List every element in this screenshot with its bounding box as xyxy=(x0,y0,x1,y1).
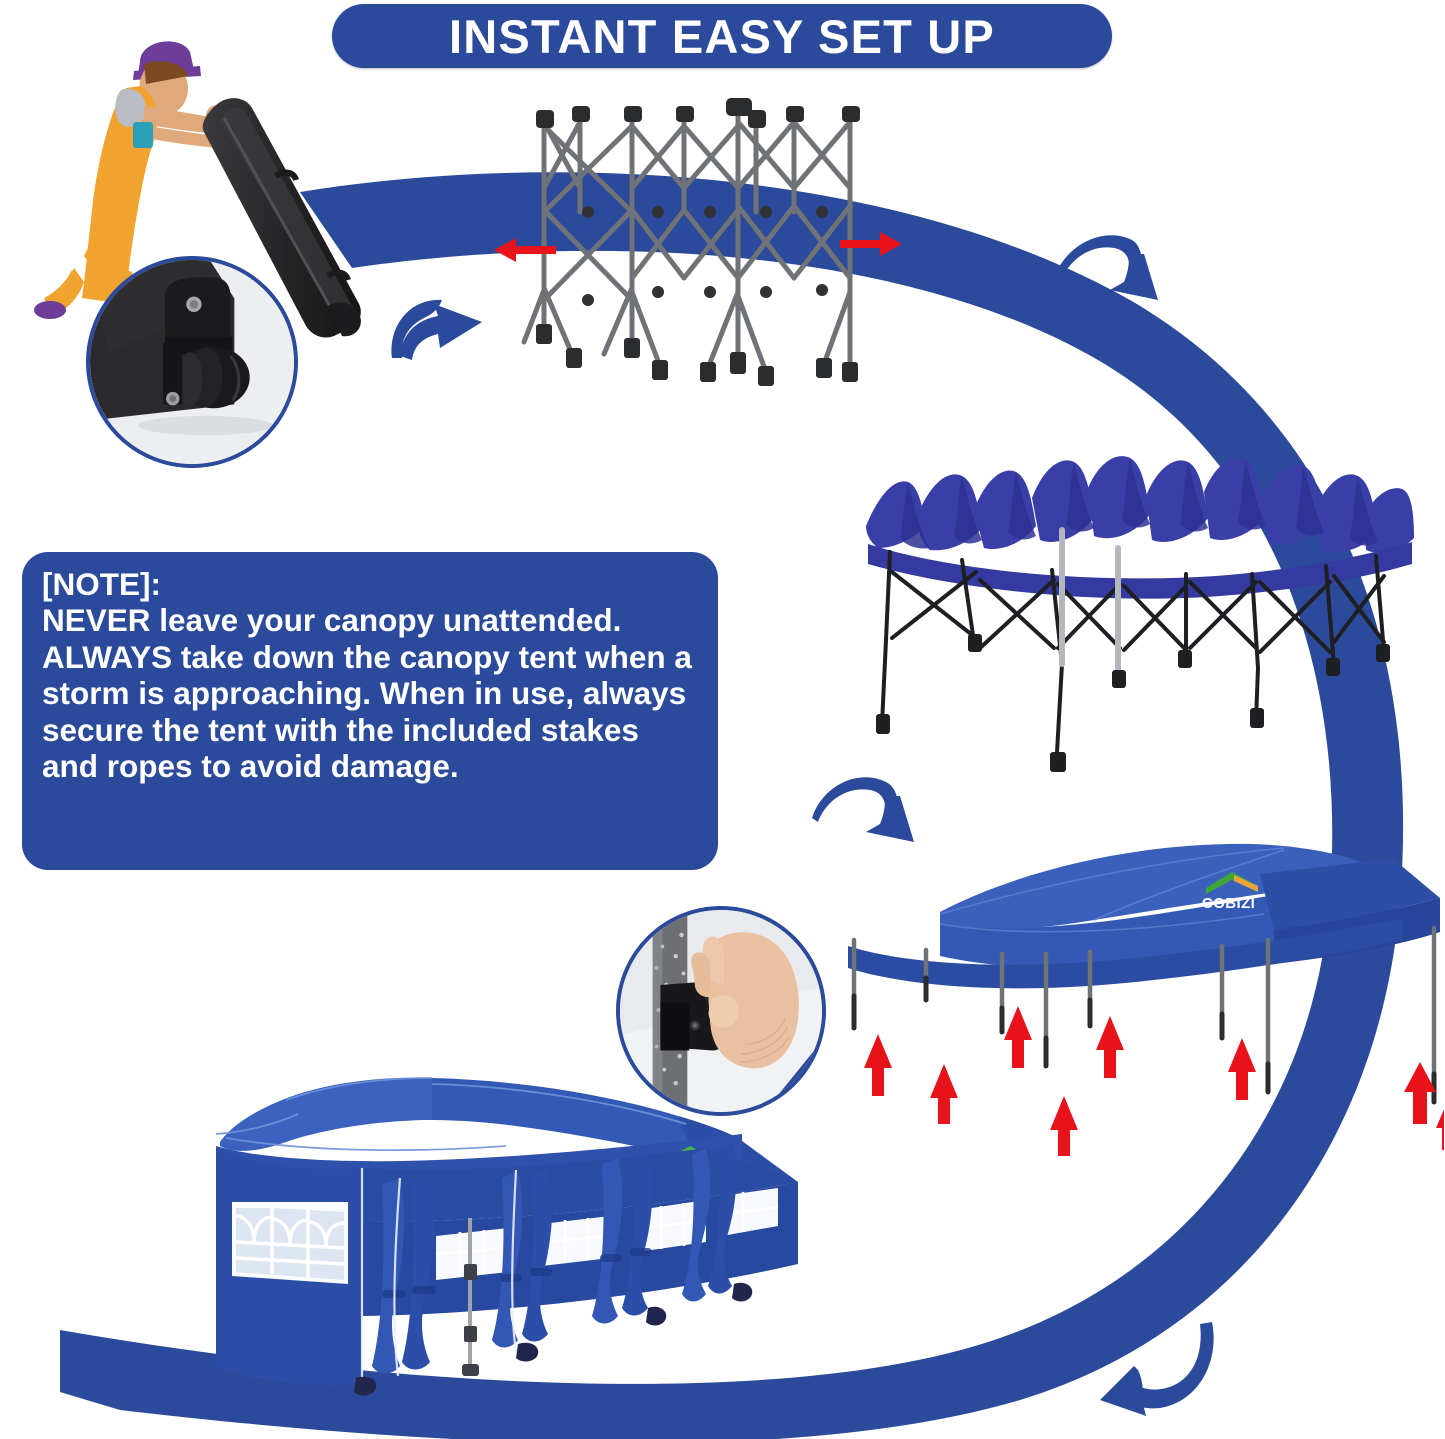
end-wall-window xyxy=(232,1202,348,1284)
step-folding-frame xyxy=(494,92,914,422)
leg-up-arrow-far-right xyxy=(1400,1058,1444,1128)
flow-arrow-2 xyxy=(1048,220,1168,324)
wheel-detail-inset xyxy=(86,256,298,468)
infographic-canvas: INSTANT EASY SET UP xyxy=(0,0,1445,1439)
step-raise-legs: COBIZI xyxy=(844,828,1444,1158)
wheel-photo xyxy=(90,260,294,464)
expand-arrow-left xyxy=(494,238,556,262)
note-body: NEVER leave your canopy unattended. ALWA… xyxy=(42,602,692,784)
brand-logo-text: COBIZI xyxy=(1202,895,1255,912)
page-title: INSTANT EASY SET UP xyxy=(449,9,995,64)
note-box: [NOTE]: NEVER leave your canopy unattend… xyxy=(22,552,718,870)
flow-arrow-1 xyxy=(378,286,488,372)
shoe-icon xyxy=(34,301,66,319)
step-finished-canopy: COBIZI xyxy=(186,1076,816,1439)
leg-up-arrows xyxy=(864,1006,1444,1156)
flow-arrow-4 xyxy=(1094,1316,1220,1424)
title-banner: INSTANT EASY SET UP xyxy=(332,4,1112,68)
step-canopy-on-frame xyxy=(856,452,1416,772)
note-label: [NOTE]: xyxy=(42,566,698,602)
